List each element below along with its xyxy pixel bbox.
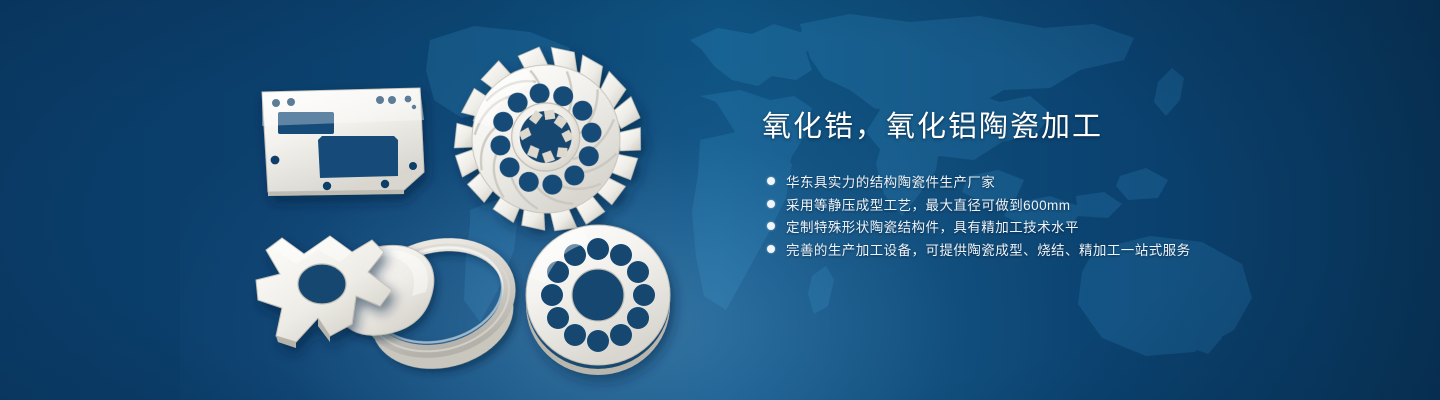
feature-item: 采用等静压成型工艺，最大直径可做到600mm bbox=[762, 193, 1422, 216]
ceramic-plate bbox=[262, 88, 424, 196]
bullet-dot-icon bbox=[767, 200, 775, 208]
bullet-dot-icon bbox=[767, 222, 775, 230]
feature-item: 定制特殊形状陶瓷结构件，具有精加工技术水平 bbox=[762, 215, 1422, 238]
feature-item-label: 华东具实力的结构陶瓷件生产厂家 bbox=[786, 171, 995, 191]
feature-item: 华东具实力的结构陶瓷件生产厂家 bbox=[762, 170, 1422, 193]
feature-item-label: 采用等静压成型工艺，最大直径可做到600mm bbox=[786, 194, 1070, 214]
feature-list: 华东具实力的结构陶瓷件生产厂家 采用等静压成型工艺，最大直径可做到600mm 定… bbox=[762, 170, 1422, 260]
promo-banner: 氧化锆，氧化铝陶瓷加工 华东具实力的结构陶瓷件生产厂家 采用等静压成型工艺，最大… bbox=[0, 0, 1440, 400]
ceramic-hole-disc bbox=[526, 225, 670, 375]
bullet-dot-icon bbox=[767, 177, 775, 185]
bullet-dot-icon bbox=[767, 245, 775, 253]
banner-title: 氧化锆，氧化铝陶瓷加工 bbox=[762, 106, 1422, 148]
feature-item: 完善的生产加工设备，可提供陶瓷成型、烧结、精加工一站式服务 bbox=[762, 238, 1422, 261]
feature-item-label: 完善的生产加工设备，可提供陶瓷成型、烧结、精加工一站式服务 bbox=[786, 239, 1191, 259]
feature-item-label: 定制特殊形状陶瓷结构件，具有精加工技术水平 bbox=[786, 216, 1079, 236]
ceramic-impeller bbox=[442, 35, 654, 243]
ceramic-parts-photo-group bbox=[0, 0, 760, 400]
banner-copy: 氧化锆，氧化铝陶瓷加工 华东具实力的结构陶瓷件生产厂家 采用等静压成型工艺，最大… bbox=[762, 106, 1422, 260]
